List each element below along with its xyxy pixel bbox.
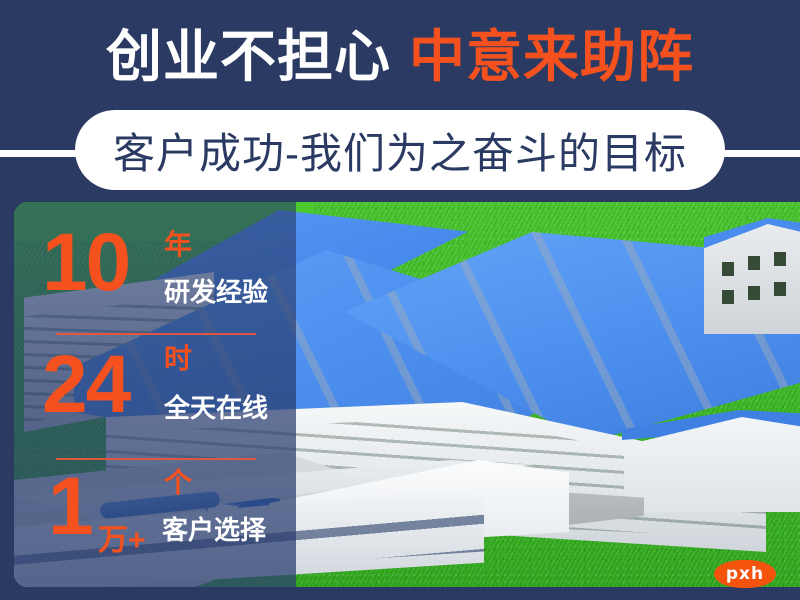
stat-label: 研发经验 xyxy=(164,278,268,306)
stat-item-experience: 10 年 研发经验 xyxy=(14,220,296,328)
subtitle-text: 客户成功-我们为之奋斗的目标 xyxy=(113,120,687,181)
stat-unit: 时 xyxy=(164,344,192,374)
headline-primary: 创业不担心 xyxy=(106,27,391,87)
stat-item-availability: 24 时 全天在线 xyxy=(14,342,296,450)
stat-divider xyxy=(56,333,256,335)
stat-unit: 个 xyxy=(164,468,192,498)
bottom-frame-bar xyxy=(0,587,800,600)
far-window xyxy=(748,286,760,300)
stat-number: 24 xyxy=(42,342,129,428)
stat-item-customers: 1 万+ 个 客户选择 xyxy=(14,468,296,576)
stat-unit: 年 xyxy=(164,230,192,260)
stat-divider xyxy=(56,458,256,460)
banner-header: 创业不担心 中意来助阵 客户成功-我们为之奋斗的目标 xyxy=(0,0,800,195)
pxh-badge-label: pxh xyxy=(726,564,764,584)
headline: 创业不担心 中意来助阵 xyxy=(0,24,800,90)
subtitle-pill: 客户成功-我们为之奋斗的目标 xyxy=(75,110,725,190)
far-window xyxy=(774,252,786,266)
far-window xyxy=(748,256,760,270)
stats-panel: 10 年 研发经验 24 时 全天在线 1 万+ 个 客户选择 xyxy=(14,202,296,587)
headline-accent: 中意来助阵 xyxy=(409,27,694,87)
left-frame-bar xyxy=(0,195,14,600)
stat-number: 1 xyxy=(48,464,92,550)
far-window xyxy=(774,282,786,296)
promo-banner: 创业不担心 中意来助阵 客户成功-我们为之奋斗的目标 xyxy=(0,0,800,600)
stat-suffix: 万+ xyxy=(98,526,146,556)
far-window xyxy=(722,262,734,276)
stat-number: 10 xyxy=(42,220,129,306)
stat-label: 客户选择 xyxy=(162,516,266,544)
far-window xyxy=(722,290,734,304)
stat-label: 全天在线 xyxy=(164,394,268,422)
pxh-badge: pxh xyxy=(714,560,776,588)
